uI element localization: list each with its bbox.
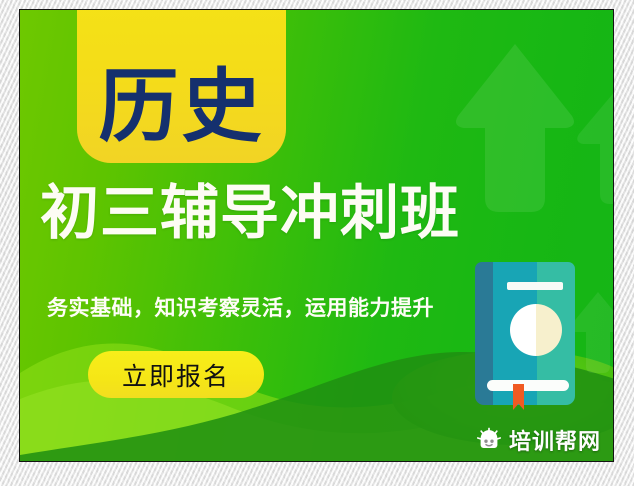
enroll-now-button-label: 立即报名: [122, 357, 230, 393]
sun-face-icon: [476, 427, 502, 453]
course-promo-poster: 历史 初三辅导冲刺班 务实基础，知识考察灵活，运用能力提升 立即报名: [19, 9, 614, 462]
poster-subtitle: 务实基础，知识考察灵活，运用能力提升: [47, 292, 434, 322]
book-circle-emblem: [510, 304, 562, 356]
arrow-large-center: [450, 38, 580, 218]
watermark: 培训帮网: [470, 422, 607, 458]
subject-badge-label: 历史: [99, 69, 265, 145]
arrow-right-upper: [575, 78, 614, 208]
textbook-icon: [475, 262, 575, 405]
enroll-now-button[interactable]: 立即报名: [88, 351, 264, 398]
page-title: 初三辅导冲刺班: [40, 182, 460, 244]
screenshot-canvas: 历史 初三辅导冲刺班 务实基础，知识考察灵活，运用能力提升 立即报名: [0, 0, 634, 486]
watermark-label: 培训帮网: [509, 424, 601, 456]
subject-badge: 历史: [77, 9, 286, 163]
book-title-bar: [507, 282, 563, 290]
book-bottom-bar: [487, 380, 569, 391]
